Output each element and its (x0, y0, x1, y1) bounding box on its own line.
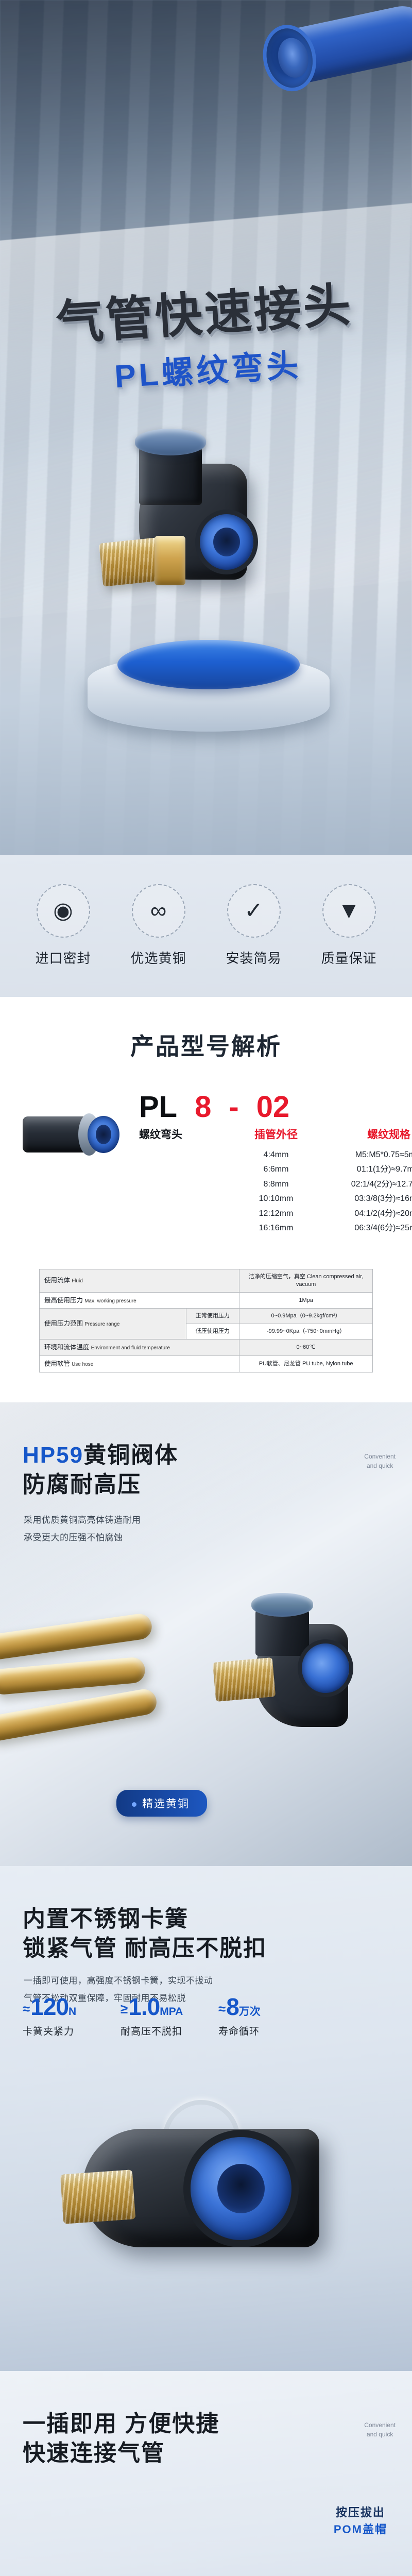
clip-product-image (62, 2072, 360, 2314)
row-label: 最高使用压力 Max. working pressure (40, 1292, 239, 1309)
quality-badge-icon: ▼ (322, 884, 376, 938)
model-code: PL 8 - 02 (132, 1090, 412, 1124)
spec-item: 10:10mm (231, 1192, 321, 1206)
label-en: Fluid (72, 1278, 83, 1284)
spec-item: 4:4mm (231, 1148, 321, 1162)
stat-number: ≥1.0MPA (121, 1995, 198, 2019)
label-cn: 使用流体 (44, 1277, 70, 1284)
code-prefix: PL (139, 1090, 177, 1124)
label-cn: 最高使用压力 (44, 1297, 83, 1304)
row-value: 0~60℃ (239, 1340, 373, 1356)
product-detail-page: 气管快速接头 PL螺纹弯头 ◉ 进口密封 ∞ (0, 0, 412, 2576)
clip-title-line1: 内置不锈钢卡簧 (23, 1904, 267, 1934)
touch-title-line1: 一插即用 方便快捷 (23, 2409, 219, 2438)
touch-corner-note: Convenient and quick (364, 2420, 396, 2439)
stat-prefix: ≈ (23, 2001, 29, 2016)
spec-item: M5:M5*0.75≈5mm (330, 1148, 412, 1162)
corner-line2: and quick (364, 1461, 396, 1470)
seal-ring-icon: ◉ (37, 884, 90, 938)
table-row: 最高使用压力 Max. working pressure 1Mpa (40, 1292, 373, 1309)
stat-value: 1.0 (128, 1993, 160, 2020)
row-label: 使用软管 Use hose (40, 1355, 239, 1372)
stat-item: ≈120N 卡簧夹紧力 (23, 1995, 100, 2038)
corner-line1: Convenient (364, 2420, 396, 2430)
touch-pill-badge: 按压拔出 POM盖帽 (334, 2504, 387, 2538)
brass-title-line1: HP59黄铜阀体 (23, 1440, 178, 1470)
brass-corner-note: Convenient and quick (364, 1452, 396, 1470)
row-value: 0~0.9Mpa（0~9.2kgf/cm²） (239, 1309, 373, 1324)
row-value: -99.99~0Kpa（-750~0mmHg） (239, 1324, 373, 1340)
label-cn: 环境和流体温度 (44, 1344, 90, 1351)
spec-item: 6:6mm (231, 1162, 321, 1177)
row-sublabel: 正常使用压力 (186, 1309, 239, 1324)
corner-line2: and quick (364, 2430, 396, 2439)
stat-number: ≈8万次 (218, 1995, 296, 2019)
stat-unit: 万次 (239, 2006, 261, 2018)
feature-item: ✓ 安装简易 (210, 884, 298, 967)
feature-badges: ◉ 进口密封 ∞ 优选黄铜 ✓ 安装简易 ▼ 质量保证 (0, 855, 412, 997)
label-en: Max. working pressure (84, 1298, 136, 1304)
spec-item: 01:1(1分)≈9.7mm (330, 1162, 412, 1177)
table-row: 使用流体 Fluid 洁净的压缩空气，真空 Clean compressed a… (40, 1269, 373, 1292)
brass-product-image (206, 1557, 376, 1773)
one-touch-section: 一插即用 方便快捷 快速连接气管 Convenient and quick 按压… (0, 2371, 412, 2576)
feature-label: 进口密封 (20, 948, 107, 967)
spec-item: 02:1/4(2分)≈12.7mm (330, 1177, 412, 1192)
brass-pill-badge: 精选黄铜 (116, 1790, 207, 1817)
brass-title-rest: 黄铜阀体 (83, 1443, 178, 1468)
feature-label: 质量保证 (305, 948, 393, 967)
model-analysis-section: 产品型号解析 PL 8 - 02 螺纹弯头 (0, 997, 412, 1264)
label-en: Pressure range (84, 1321, 119, 1327)
model-column-elbow: 螺纹弯头 (139, 1126, 222, 1236)
spec-item: 06:3/4(6分)≈25mm (330, 1221, 412, 1235)
spec-item: 16:16mm (231, 1221, 321, 1235)
clip-title-line2: 锁紧气管 耐高压不脱扣 (23, 1934, 267, 1963)
feature-glyph: ✓ (244, 900, 263, 922)
label-cn: 使用软管 (44, 1360, 70, 1367)
feature-item: ◉ 进口密封 (20, 884, 107, 967)
spec-item: 12:12mm (231, 1207, 321, 1221)
stat-label: 耐高压不脱扣 (121, 2024, 198, 2038)
stat-label: 卡簧夹紧力 (23, 2024, 100, 2038)
pill-label: 精选黄铜 (142, 1798, 190, 1810)
pill-line2: POM盖帽 (334, 2521, 387, 2538)
pill-line1: 按压拔出 (334, 2504, 387, 2521)
feature-glyph: ∞ (150, 900, 166, 922)
model-fitting-image (23, 1099, 126, 1176)
spec-item: 04:1/2(4分)≈20mm (330, 1207, 412, 1221)
label-en: Environment and fluid temperature (91, 1345, 170, 1351)
feature-label: 优选黄铜 (115, 948, 202, 967)
stat-number: ≈120N (23, 1995, 100, 2019)
stat-unit: N (68, 2006, 76, 2018)
code-dash: - (229, 1090, 238, 1124)
row-label: 使用压力范围 Pressure range (40, 1309, 186, 1340)
spec-item: 8:8mm (231, 1177, 321, 1192)
clip-stats-row: ≈120N 卡簧夹紧力 ≥1.0MPA 耐高压不脱扣 ≈8万次 寿命循环 (23, 1995, 296, 2038)
column-head: 螺纹规格 (330, 1126, 412, 1142)
row-label: 环境和流体温度 Environment and fluid temperatur… (40, 1340, 239, 1356)
section-title: 产品型号解析 (0, 1028, 412, 1062)
feature-glyph: ▼ (338, 900, 360, 922)
touch-product-image (21, 2541, 391, 2576)
label-en: Use hose (72, 1362, 93, 1367)
stat-value: 120 (30, 1993, 68, 2020)
table-row: 环境和流体温度 Environment and fluid temperatur… (40, 1340, 373, 1356)
feature-item: ▼ 质量保证 (305, 884, 393, 967)
table-row: 使用压力范围 Pressure range 正常使用压力 0~0.9Mpa（0~… (40, 1309, 373, 1324)
touch-title-block: 一插即用 方便快捷 快速连接气管 (23, 2409, 219, 2468)
code-size: 8 (195, 1090, 211, 1124)
corner-line1: Convenient (364, 1452, 396, 1461)
feature-label: 安装简易 (210, 948, 298, 967)
hero-banner: 气管快速接头 PL螺纹弯头 (0, 0, 412, 855)
parameter-table: 使用流体 Fluid 洁净的压缩空气，真空 Clean compressed a… (39, 1269, 373, 1372)
model-column-tube-od: 插管外径 4:4mm 6:6mm 8:8mm 10:10mm 12:12mm 1… (231, 1126, 321, 1236)
column-head: 螺纹弯头 (139, 1126, 222, 1142)
stainless-clip-section: 内置不锈钢卡簧 锁紧气管 耐高压不脱扣 一插即可使用，高强度不锈钢卡簧，实现不拔… (0, 1866, 412, 2371)
table-row: 使用软管 Use hose PU软管、尼龙管 PU tube, Nylon tu… (40, 1355, 373, 1372)
brass-rods-image (0, 1624, 199, 1784)
row-value: 1Mpa (239, 1292, 373, 1309)
stat-item: ≥1.0MPA 耐高压不脱扣 (121, 1995, 198, 2038)
row-value: PU软管、尼龙管 PU tube, Nylon tube (239, 1355, 373, 1372)
code-thread: 02 (256, 1090, 290, 1124)
feature-glyph: ◉ (53, 900, 73, 922)
hero-pedestal (88, 634, 330, 732)
touch-title-line2: 快速连接气管 (23, 2438, 219, 2468)
easy-install-icon: ✓ (227, 884, 281, 938)
row-label: 使用流体 Fluid (40, 1269, 239, 1292)
brass-icon: ∞ (132, 884, 185, 938)
model-column-thread-spec: 螺纹规格 M5:M5*0.75≈5mm 01:1(1分)≈9.7mm 02:1/… (330, 1126, 412, 1236)
stat-unit: MPA (160, 2006, 183, 2018)
stat-prefix: ≥ (121, 2001, 127, 2016)
column-head: 插管外径 (231, 1126, 321, 1142)
stat-label: 寿命循环 (218, 2024, 296, 2038)
stat-value: 8 (226, 1993, 239, 2020)
stat-item: ≈8万次 寿命循环 (218, 1995, 296, 2038)
brass-body-section: HP59黄铜阀体 防腐耐高压 采用优质黄铜高亮体铸造耐用 承受更大的压强不怕腐蚀… (0, 1402, 412, 1866)
row-value: 洁净的压缩空气，真空 Clean compressed air, vacuum (239, 1269, 373, 1292)
brass-title-line2: 防腐耐高压 (23, 1470, 178, 1499)
row-sublabel: 低压使用压力 (186, 1324, 239, 1340)
stat-prefix: ≈ (218, 2001, 225, 2016)
brass-title-highlight: HP59 (23, 1443, 83, 1468)
feature-item: ∞ 优选黄铜 (115, 884, 202, 967)
pill-dot-icon (132, 1802, 136, 1807)
label-cn: 使用压力范围 (44, 1320, 83, 1327)
brass-description: 采用优质黄铜高亮体铸造耐用 承受更大的压强不怕腐蚀 (24, 1512, 266, 1547)
brass-title-block: HP59黄铜阀体 防腐耐高压 (23, 1440, 178, 1499)
clip-title-block: 内置不锈钢卡簧 锁紧气管 耐高压不脱扣 (23, 1904, 267, 1963)
spec-item: 03:3/8(3分)≈16mm (330, 1192, 412, 1206)
parameter-table-wrapper: 使用流体 Fluid 洁净的压缩空气，真空 Clean compressed a… (0, 1264, 412, 1402)
